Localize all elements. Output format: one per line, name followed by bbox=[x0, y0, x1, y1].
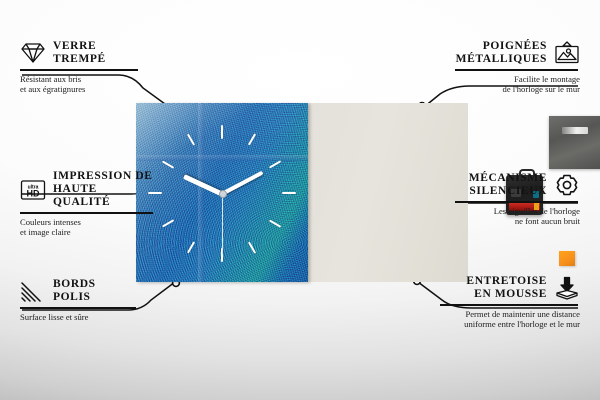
hands-center-cap bbox=[219, 190, 227, 198]
hd-label: HD bbox=[27, 188, 40, 198]
callout-description: Résistant aux bris et aux égratignures bbox=[20, 74, 140, 95]
callout-header: POIGNÉES MÉTALLIQUES bbox=[455, 40, 580, 66]
callout-title-line2: EN MOUSSE bbox=[466, 288, 547, 301]
diamond-icon bbox=[20, 42, 46, 64]
callout-desc-line1: Couleurs intenses bbox=[20, 217, 155, 228]
callout-header: MÉCANISME SILENCIEUX bbox=[455, 172, 580, 198]
callout-title-line2: SILENCIEUX bbox=[469, 185, 547, 198]
callout-poignees-metalliques: POIGNÉES MÉTALLIQUES Facilite le montage… bbox=[455, 40, 580, 95]
callout-entretoise-en-mousse: ENTRETOISE EN MOUSSE Permet de maintenir… bbox=[440, 275, 580, 330]
callout-title: IMPRESSION DE HAUTE QUALITÉ bbox=[53, 170, 155, 209]
callout-desc-line2: de l'horloge sur le mur bbox=[455, 84, 580, 95]
callout-desc-line2: uniforme entre l'horloge et le mur bbox=[440, 319, 580, 330]
polished-edge-icon bbox=[20, 280, 46, 302]
wall-surface bbox=[307, 103, 468, 282]
callout-bords-polis: BORDS POLIS Surface lisse et sûre bbox=[20, 278, 138, 322]
callout-desc-line2: ne font aucun bruit bbox=[455, 216, 580, 227]
callout-header: BORDS POLIS bbox=[20, 278, 138, 304]
callout-title-line2: TREMPÉ bbox=[53, 53, 106, 66]
callout-title-line2: POLIS bbox=[53, 291, 96, 304]
callout-desc-line1: Surface lisse et sûre bbox=[20, 312, 138, 323]
callout-rule bbox=[455, 201, 578, 203]
callout-desc-line2: et aux égratignures bbox=[20, 84, 140, 95]
second-hand bbox=[222, 193, 223, 255]
blue-clock-face bbox=[136, 103, 308, 282]
callout-title-line1: VERRE bbox=[53, 40, 106, 53]
callout-description: Facilite le montage de l'horloge sur le … bbox=[455, 74, 580, 95]
ultra-hd-icon: ultra HD bbox=[20, 179, 46, 201]
callout-title: POIGNÉES MÉTALLIQUES bbox=[456, 40, 547, 66]
callout-title: BORDS POLIS bbox=[53, 278, 96, 304]
callout-impression-haute-qualite: ultra HD IMPRESSION DE HAUTE QUALITÉ Cou… bbox=[20, 170, 155, 238]
foam-spacer-icon bbox=[554, 276, 580, 300]
product-photo bbox=[136, 103, 468, 282]
callout-title: ENTRETOISE EN MOUSSE bbox=[466, 275, 547, 301]
callout-header: ENTRETOISE EN MOUSSE bbox=[440, 275, 580, 301]
callout-rule bbox=[20, 307, 136, 309]
callout-title-line2: HAUTE QUALITÉ bbox=[53, 183, 155, 209]
callout-header: VERRE TREMPÉ bbox=[20, 40, 140, 66]
callout-desc-line1: Les aiguilles de l'horloge bbox=[455, 206, 580, 217]
callout-desc-line2: et image claire bbox=[20, 227, 155, 238]
callout-rule bbox=[20, 212, 153, 214]
callout-title: VERRE TREMPÉ bbox=[53, 40, 106, 66]
callout-verre-trempe: VERRE TREMPÉ Résistant aux bris et aux é… bbox=[20, 40, 140, 95]
callout-description: Surface lisse et sûre bbox=[20, 312, 138, 323]
callout-desc-line1: Facilite le montage bbox=[455, 74, 580, 85]
picture-frame-icon bbox=[554, 41, 580, 65]
gear-icon bbox=[554, 173, 580, 197]
callout-desc-line1: Résistant aux bris bbox=[20, 74, 140, 85]
callout-mecanisme-silencieux: MÉCANISME SILENCIEUX Les aiguilles de l'… bbox=[455, 172, 580, 227]
callout-header: ultra HD IMPRESSION DE HAUTE QUALITÉ bbox=[20, 170, 155, 209]
callout-title-line1: MÉCANISME bbox=[469, 172, 547, 185]
callout-rule bbox=[20, 69, 138, 71]
callout-description: Les aiguilles de l'horloge ne font aucun… bbox=[455, 206, 580, 227]
infographic-canvas: VERRE TREMPÉ Résistant aux bris et aux é… bbox=[0, 0, 600, 400]
callout-title-line2: MÉTALLIQUES bbox=[456, 53, 547, 66]
callout-title-line1: BORDS bbox=[53, 278, 96, 291]
callout-title-line1: POIGNÉES bbox=[456, 40, 547, 53]
callout-title: MÉCANISME SILENCIEUX bbox=[469, 172, 547, 198]
callout-description: Couleurs intenses et image claire bbox=[20, 217, 155, 238]
metal-hanger-plate bbox=[549, 116, 600, 169]
callout-title-line1: ENTRETOISE bbox=[466, 275, 547, 288]
callout-rule bbox=[455, 69, 578, 71]
callout-desc-line1: Permet de maintenir une distance bbox=[440, 309, 580, 320]
callout-rule bbox=[440, 304, 578, 306]
callout-description: Permet de maintenir une distance uniform… bbox=[440, 309, 580, 330]
callout-title-line1: IMPRESSION DE bbox=[53, 170, 155, 183]
foam-spacer bbox=[559, 251, 575, 266]
